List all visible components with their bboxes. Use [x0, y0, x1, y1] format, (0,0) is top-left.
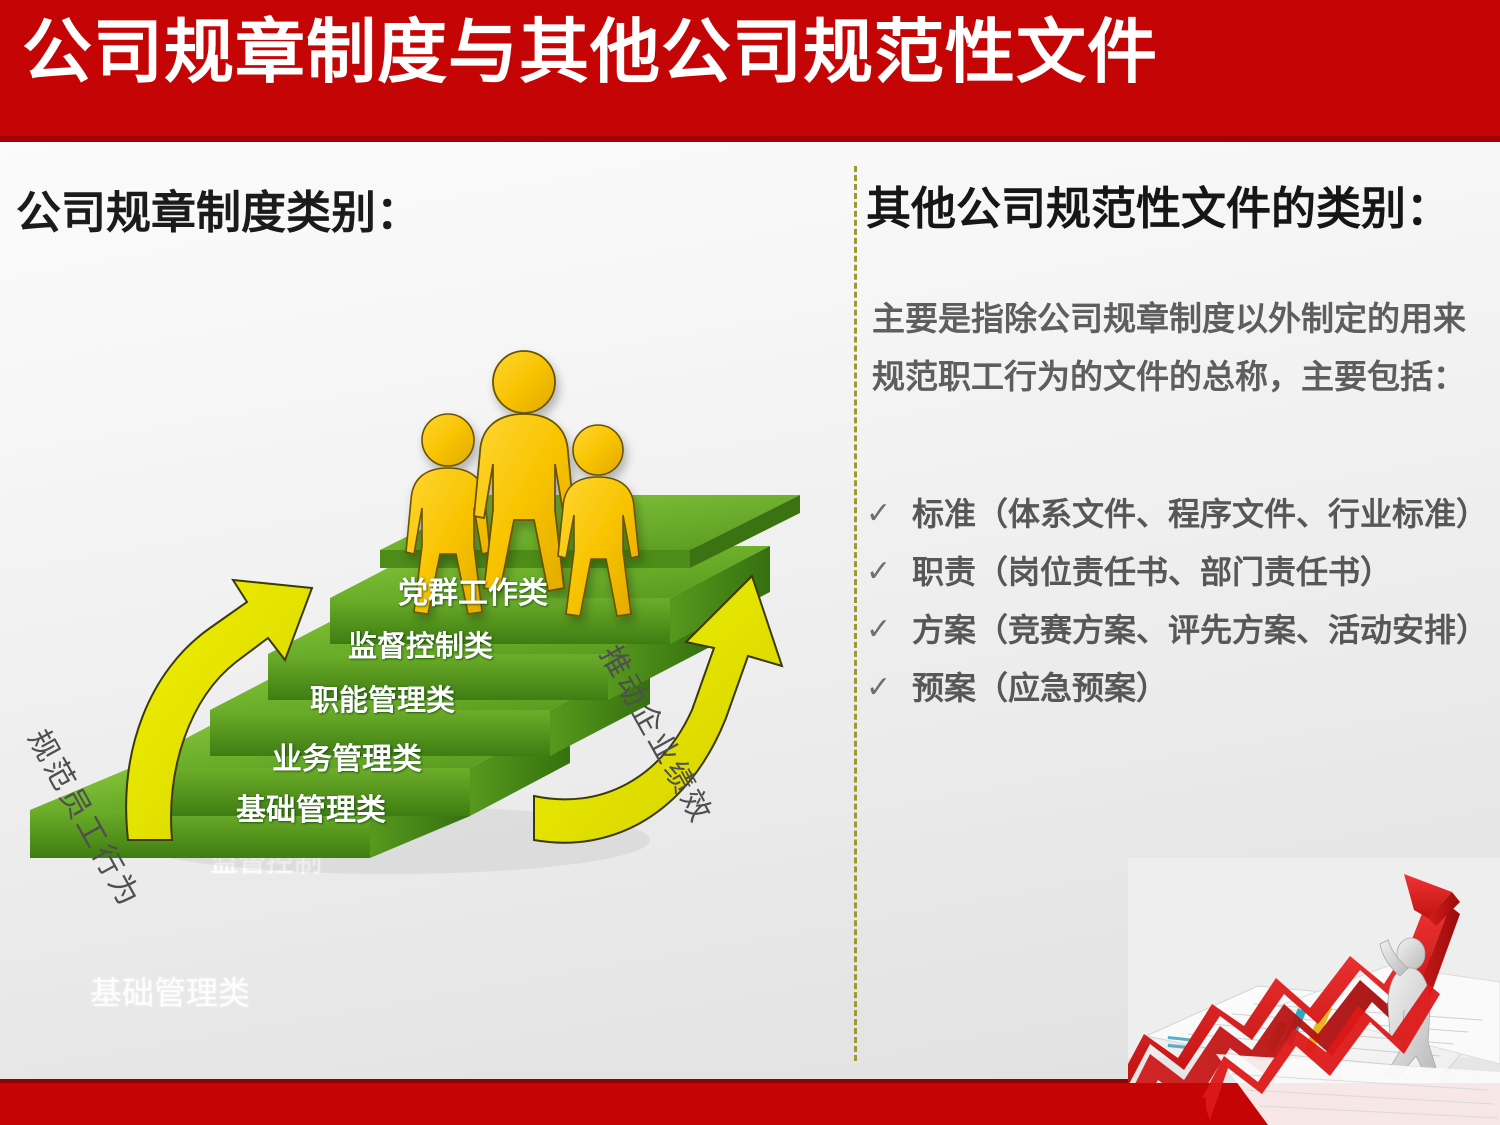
- list-item: ✓ 预案（应急预案）: [866, 661, 1492, 715]
- right-column-heading: 其他公司规范性文件的类别：: [866, 172, 1451, 237]
- step-label-basic-management: 基础管理类: [236, 785, 386, 829]
- list-item: ✓ 职责（岗位责任书、部门责任书）: [866, 545, 1492, 599]
- growth-chart-image: 2008 400% 2009 2010 2011 2012: [1128, 858, 1500, 1125]
- document-type-list: ✓ 标准（体系文件、程序文件、行业标准） ✓ 职责（岗位责任书、部门责任书） ✓…: [866, 487, 1492, 719]
- step-label-party-mass-work: 党群工作类: [398, 568, 548, 612]
- step-label-business-management: 业务管理类: [272, 734, 422, 778]
- staircase-diagram: 基础管理类 业务管理类 职能管理类 监督控制类 党群工作类 规范员工行为 推动企…: [0, 150, 860, 910]
- left-column-heading: 公司规章制度类别：: [16, 176, 421, 241]
- page-title: 公司规章制度与其他公司规范性文件: [22, 17, 1158, 87]
- watermark-basic-management: 基础管理类: [90, 968, 250, 1014]
- header-underline: [0, 136, 1500, 142]
- list-item-label: 预案（应急预案）: [912, 661, 1492, 715]
- slide-canvas: 公司规章制度与其他公司规范性文件 公司规章制度类别： 监督控制 基础管理类: [0, 0, 1500, 1125]
- check-icon: ✓: [866, 487, 912, 541]
- check-icon: ✓: [866, 603, 912, 657]
- staircase-svg: [0, 150, 860, 910]
- list-item-label: 方案（竞赛方案、评先方案、活动安排）: [912, 603, 1492, 657]
- list-item: ✓ 方案（竞赛方案、评先方案、活动安排）: [866, 603, 1492, 657]
- check-icon: ✓: [866, 661, 912, 715]
- step-label-supervision-control: 监督控制类: [348, 623, 493, 665]
- step-label-functional-management: 职能管理类: [310, 677, 455, 719]
- check-icon: ✓: [866, 545, 912, 599]
- right-column-intro: 主要是指除公司规章制度以外制定的用来规范职工行为的文件的总称，主要包括：: [872, 290, 1490, 406]
- growth-chart-svg: 2008 400% 2009 2010 2011 2012: [1128, 858, 1500, 1125]
- list-item-label: 标准（体系文件、程序文件、行业标准）: [912, 487, 1492, 541]
- list-item-label: 职责（岗位责任书、部门责任书）: [912, 545, 1492, 599]
- list-item: ✓ 标准（体系文件、程序文件、行业标准）: [866, 487, 1492, 541]
